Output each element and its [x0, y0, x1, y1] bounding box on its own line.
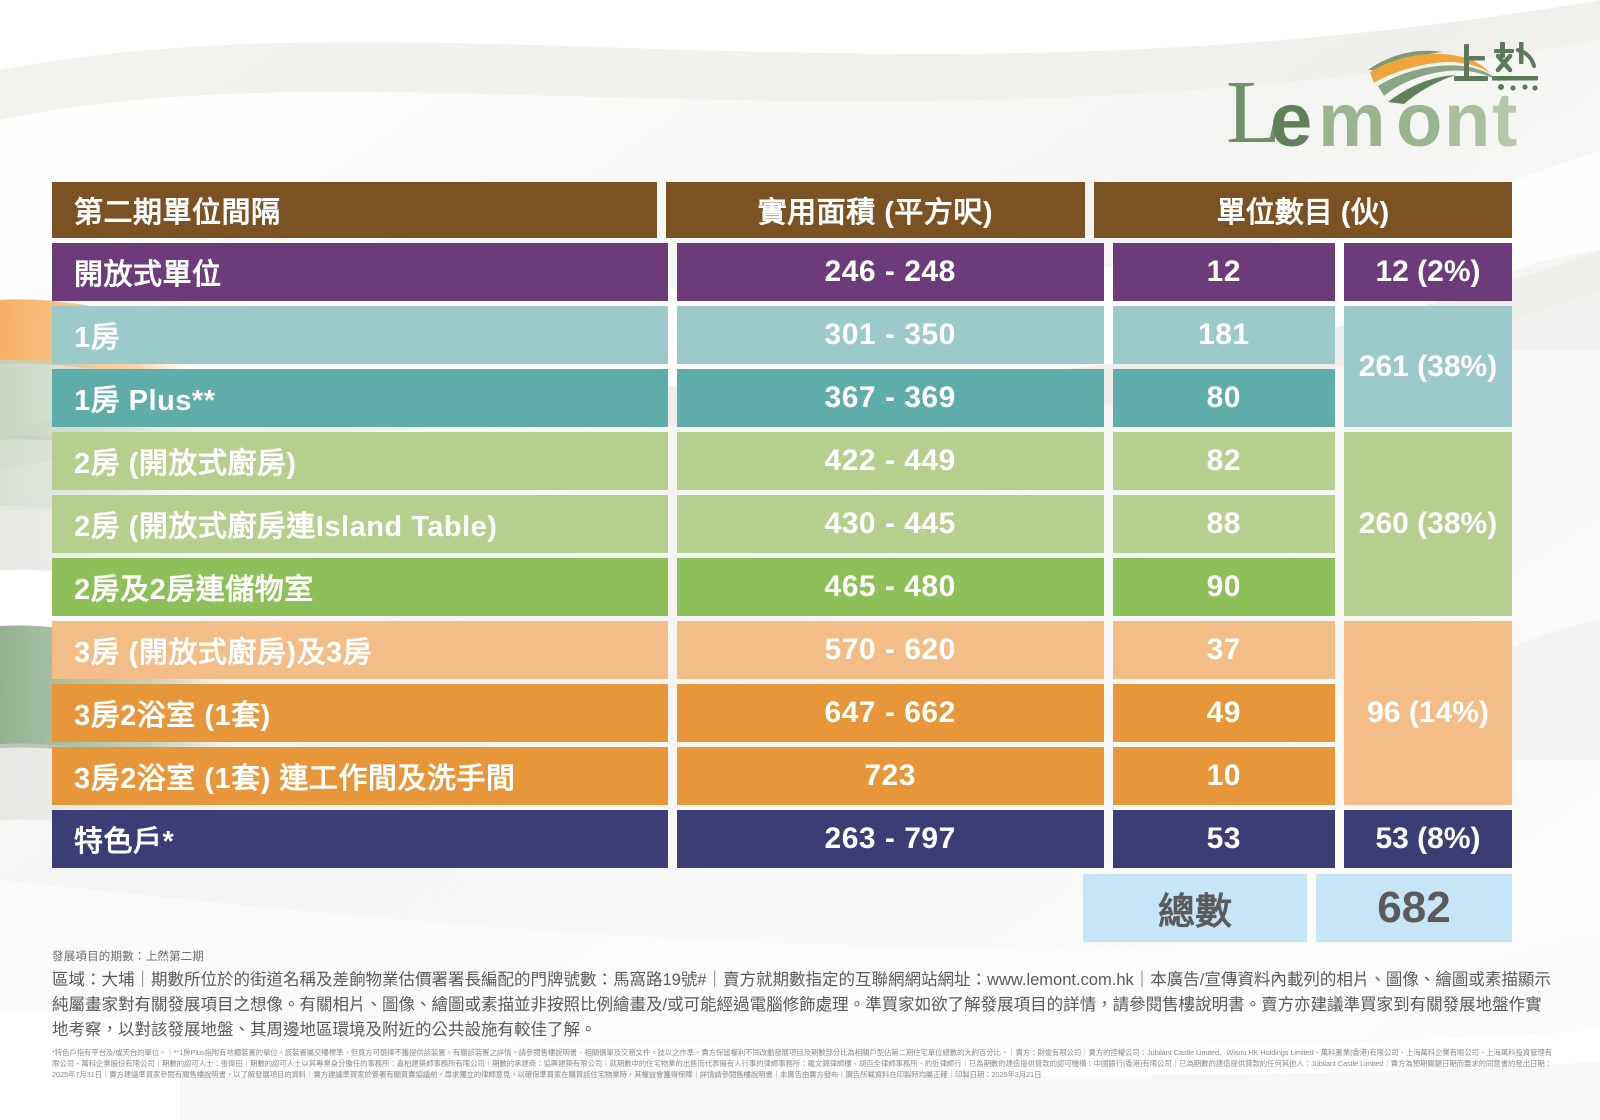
total-value: 682 [1316, 874, 1512, 942]
table-row: 2房 (開放式廚房)422 - 44982 [52, 432, 1335, 490]
cell-unit-count: 88 [1113, 495, 1335, 553]
cell-unit-count: 181 [1113, 306, 1335, 364]
cell-unit-type: 3房2浴室 (1套) 連工作間及洗手間 [52, 747, 668, 805]
cell-saleable-area: 301 - 350 [677, 306, 1104, 364]
cell-unit-count: 82 [1113, 432, 1335, 490]
cell-unit-count: 10 [1113, 747, 1335, 805]
svg-text:n: n [1444, 78, 1490, 155]
table-body: 開放式單位246 - 2481212 (2%)1房301 - 3501811房 … [52, 243, 1512, 868]
cell-unit-count: 90 [1113, 558, 1335, 616]
cell-unit-type: 特色戶* [52, 810, 668, 868]
cell-unit-type: 1房 Plus** [52, 369, 668, 427]
unit-group: 1房301 - 3501811房 Plus**367 - 36980261 (3… [52, 306, 1512, 427]
unit-mix-table: 第二期單位間隔 實用面積 (平方呎) 單位數目 (伙) 開放式單位246 - 2… [52, 182, 1512, 942]
cell-saleable-area: 430 - 445 [677, 495, 1104, 553]
cell-unit-type: 3房 (開放式廚房)及3房 [52, 621, 668, 679]
cell-saleable-area: 723 [677, 747, 1104, 805]
table-row: 3房 (開放式廚房)及3房570 - 62037 [52, 621, 1335, 679]
cell-saleable-area: 263 - 797 [677, 810, 1104, 868]
cell-unit-type: 3房2浴室 (1套) [52, 684, 668, 742]
unit-group: 2房 (開放式廚房)422 - 449822房 (開放式廚房連Island Ta… [52, 432, 1512, 616]
lemont-logo: L e m o n t [1218, 30, 1548, 155]
cell-saleable-area: 570 - 620 [677, 621, 1104, 679]
group-subtotal: 261 (38%) [1344, 306, 1512, 427]
cell-unit-type: 1房 [52, 306, 668, 364]
total-label: 總數 [1083, 874, 1307, 942]
footer-fine-print: *特色戶指有平台及/或天台的單位。｜**1房Plus指附有地櫃裝置的單位。該裝置… [52, 1048, 1552, 1080]
cell-unit-count: 37 [1113, 621, 1335, 679]
header-unit-type: 第二期單位間隔 [52, 182, 657, 238]
table-header-row: 第二期單位間隔 實用面積 (平方呎) 單位數目 (伙) [52, 182, 1512, 238]
table-row: 特色戶*263 - 79753 [52, 810, 1335, 868]
footer-disclaimer: 發展項目的期數：上然第二期 區域：大埔｜期數所位於的街道名稱及差餉物業估價署署長… [52, 948, 1552, 1080]
cell-saleable-area: 367 - 369 [677, 369, 1104, 427]
group-subtotal: 12 (2%) [1344, 243, 1512, 301]
header-saleable-area: 實用面積 (平方呎) [666, 182, 1085, 238]
unit-group: 開放式單位246 - 2481212 (2%) [52, 243, 1512, 301]
table-row: 2房及2房連儲物室465 - 48090 [52, 558, 1335, 616]
table-row: 1房301 - 350181 [52, 306, 1335, 364]
cell-saleable-area: 422 - 449 [677, 432, 1104, 490]
cell-unit-type: 2房 (開放式廚房連Island Table) [52, 495, 668, 553]
footer-phase-line: 發展項目的期數：上然第二期 [52, 948, 1552, 964]
group-subtotal: 96 (14%) [1344, 621, 1512, 805]
cell-unit-count: 12 [1113, 243, 1335, 301]
cell-saleable-area: 246 - 248 [677, 243, 1104, 301]
svg-text:m: m [1318, 78, 1386, 155]
cell-unit-count: 80 [1113, 369, 1335, 427]
svg-text:t: t [1492, 78, 1517, 155]
table-row: 1房 Plus**367 - 36980 [52, 369, 1335, 427]
group-subtotal: 53 (8%) [1344, 810, 1512, 868]
cell-saleable-area: 465 - 480 [677, 558, 1104, 616]
table-row: 3房2浴室 (1套) 連工作間及洗手間72310 [52, 747, 1335, 805]
table-row: 2房 (開放式廚房連Island Table)430 - 44588 [52, 495, 1335, 553]
cell-unit-type: 開放式單位 [52, 243, 668, 301]
cell-saleable-area: 647 - 662 [677, 684, 1104, 742]
footer-main-text: 區域：大埔｜期數所位於的街道名稱及差餉物業估價署署長編配的門牌號數：馬窩路19號… [52, 968, 1552, 1042]
header-unit-count: 單位數目 (伙) [1094, 182, 1512, 238]
table-row: 開放式單位246 - 24812 [52, 243, 1335, 301]
cell-unit-type: 2房及2房連儲物室 [52, 558, 668, 616]
unit-group: 特色戶*263 - 7975353 (8%) [52, 810, 1512, 868]
cell-unit-count: 53 [1113, 810, 1335, 868]
table-row: 3房2浴室 (1套)647 - 66249 [52, 684, 1335, 742]
cell-unit-type: 2房 (開放式廚房) [52, 432, 668, 490]
cell-unit-count: 49 [1113, 684, 1335, 742]
svg-text:o: o [1396, 78, 1442, 155]
svg-text:e: e [1270, 78, 1312, 155]
group-subtotal: 260 (38%) [1344, 432, 1512, 616]
total-row: 總數 682 [52, 874, 1512, 942]
unit-group: 3房 (開放式廚房)及3房570 - 620373房2浴室 (1套)647 - … [52, 621, 1512, 805]
